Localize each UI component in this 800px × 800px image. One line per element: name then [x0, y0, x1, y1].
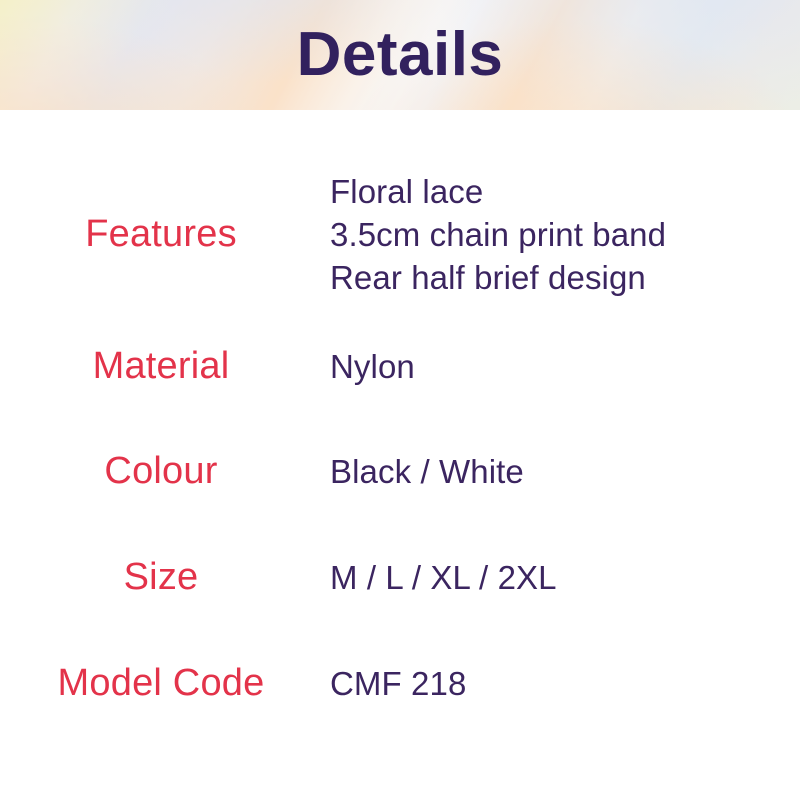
table-row: Model Code CMF 218: [0, 630, 800, 736]
details-page: Details Features Floral lace 3.5cm chain…: [0, 0, 800, 800]
spec-label-model-code: Model Code: [58, 662, 265, 704]
spec-label-cell: Size: [0, 556, 330, 599]
spec-label-features: Features: [85, 213, 237, 255]
page-title: Details: [0, 12, 800, 98]
spec-label-cell: Model Code: [0, 662, 330, 705]
spec-label-cell: Material: [0, 345, 330, 388]
spec-value-line: M / L / XL / 2XL: [330, 556, 800, 599]
spec-value-size: M / L / XL / 2XL: [330, 556, 800, 599]
spec-value-colour: Black / White: [330, 450, 800, 493]
spec-value-features: Floral lace 3.5cm chain print band Rear …: [330, 170, 800, 299]
spec-value-cell: Black / White: [330, 450, 800, 493]
spec-value-cell: Nylon: [330, 345, 800, 388]
page-header: Details: [0, 0, 800, 110]
specification-table: Features Floral lace 3.5cm chain print b…: [0, 110, 800, 736]
spec-label-cell: Colour: [0, 450, 330, 493]
spec-label-material: Material: [93, 345, 230, 387]
spec-label-cell: Features: [0, 213, 330, 256]
spec-value-line: Floral lace: [330, 170, 800, 213]
spec-label-colour: Colour: [104, 450, 217, 492]
table-row: Features Floral lace 3.5cm chain print b…: [0, 154, 800, 314]
table-row: Colour Black / White: [0, 418, 800, 524]
spec-value-model-code: CMF 218: [330, 662, 800, 705]
spec-value-line: 3.5cm chain print band: [330, 213, 800, 256]
spec-value-cell: Floral lace 3.5cm chain print band Rear …: [330, 170, 800, 299]
spec-label-size: Size: [124, 556, 199, 598]
spec-value-line: Black / White: [330, 450, 800, 493]
spec-value-material: Nylon: [330, 345, 800, 388]
spec-value-line: Rear half brief design: [330, 256, 800, 299]
spec-value-cell: M / L / XL / 2XL: [330, 556, 800, 599]
table-row: Size M / L / XL / 2XL: [0, 524, 800, 630]
spec-value-line: Nylon: [330, 345, 800, 388]
spec-value-line: CMF 218: [330, 662, 800, 705]
spec-value-cell: CMF 218: [330, 662, 800, 705]
table-row: Material Nylon: [0, 314, 800, 418]
